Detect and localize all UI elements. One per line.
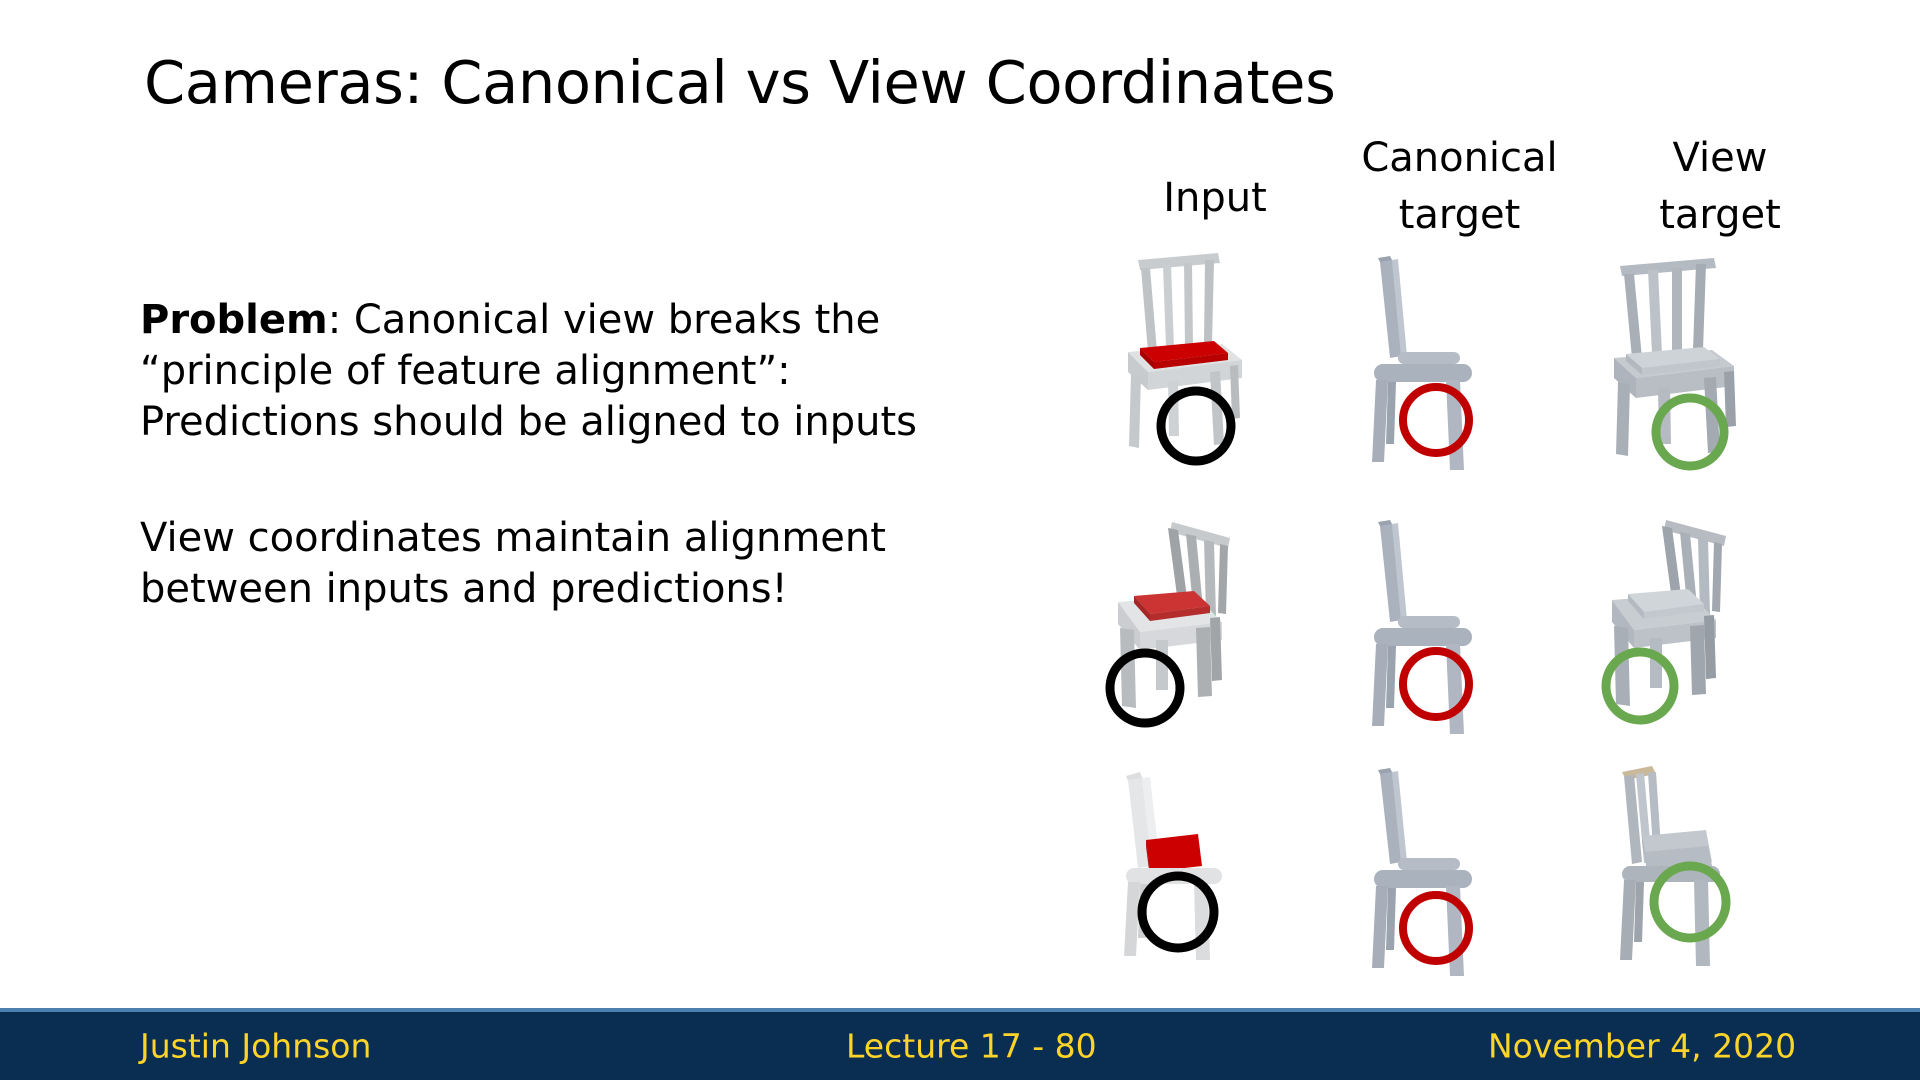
chair-render-row1-input bbox=[1110, 248, 1340, 498]
chair-render-row2-input bbox=[1110, 518, 1340, 768]
chair-render-row3-view bbox=[1608, 770, 1838, 1020]
column-header-canonical-line1: Canonical bbox=[1332, 130, 1587, 187]
column-header-view-target: View target bbox=[1600, 130, 1840, 244]
footer-date: November 4, 2020 bbox=[1488, 1027, 1796, 1066]
paragraph-problem-lead: Problem bbox=[140, 297, 328, 343]
paragraph-problem: Problem: Canonical view breaks the “prin… bbox=[140, 295, 950, 447]
footer-lecture: Lecture 17 - 80 bbox=[846, 1027, 1097, 1066]
chair-3d-rotated bbox=[1118, 522, 1230, 708]
annotation-circle-black bbox=[1110, 653, 1180, 723]
paragraph-view-coordinates: View coordinates maintain alignment betw… bbox=[140, 513, 950, 615]
page-title: Cameras: Canonical vs View Coordinates bbox=[144, 52, 1335, 114]
chair-side-profile bbox=[1372, 256, 1472, 470]
chair-3d-front-left bbox=[1128, 253, 1242, 448]
chair-render-row2-canonical bbox=[1358, 518, 1588, 768]
footer-author: Justin Johnson bbox=[140, 1027, 371, 1066]
figure-grid: Input Canonical target View target bbox=[1100, 130, 1920, 1010]
chair-render-row1-view bbox=[1608, 248, 1838, 498]
column-header-view-line2: target bbox=[1600, 187, 1840, 244]
slide-canvas: Cameras: Canonical vs View Coordinates P… bbox=[0, 0, 1920, 1080]
chair-side-profile bbox=[1372, 520, 1472, 734]
chair-render-row3-canonical bbox=[1358, 770, 1588, 1020]
slide-footer: Justin Johnson Lecture 17 - 80 November … bbox=[0, 1008, 1920, 1080]
column-header-canonical-target: Canonical target bbox=[1332, 130, 1587, 244]
chair-3d-front-left-grey bbox=[1614, 258, 1736, 456]
chair-render-row3-input bbox=[1110, 770, 1340, 1020]
column-header-input-label: Input bbox=[1100, 170, 1330, 227]
column-header-view-line1: View bbox=[1600, 130, 1840, 187]
chair-side-profile bbox=[1372, 768, 1472, 976]
column-header-canonical-line2: target bbox=[1332, 187, 1587, 244]
chair-render-row2-view bbox=[1608, 518, 1838, 768]
column-header-input: Input bbox=[1100, 170, 1330, 227]
body-text-column: Problem: Canonical view breaks the “prin… bbox=[140, 295, 950, 615]
chair-render-row1-canonical bbox=[1358, 248, 1588, 498]
